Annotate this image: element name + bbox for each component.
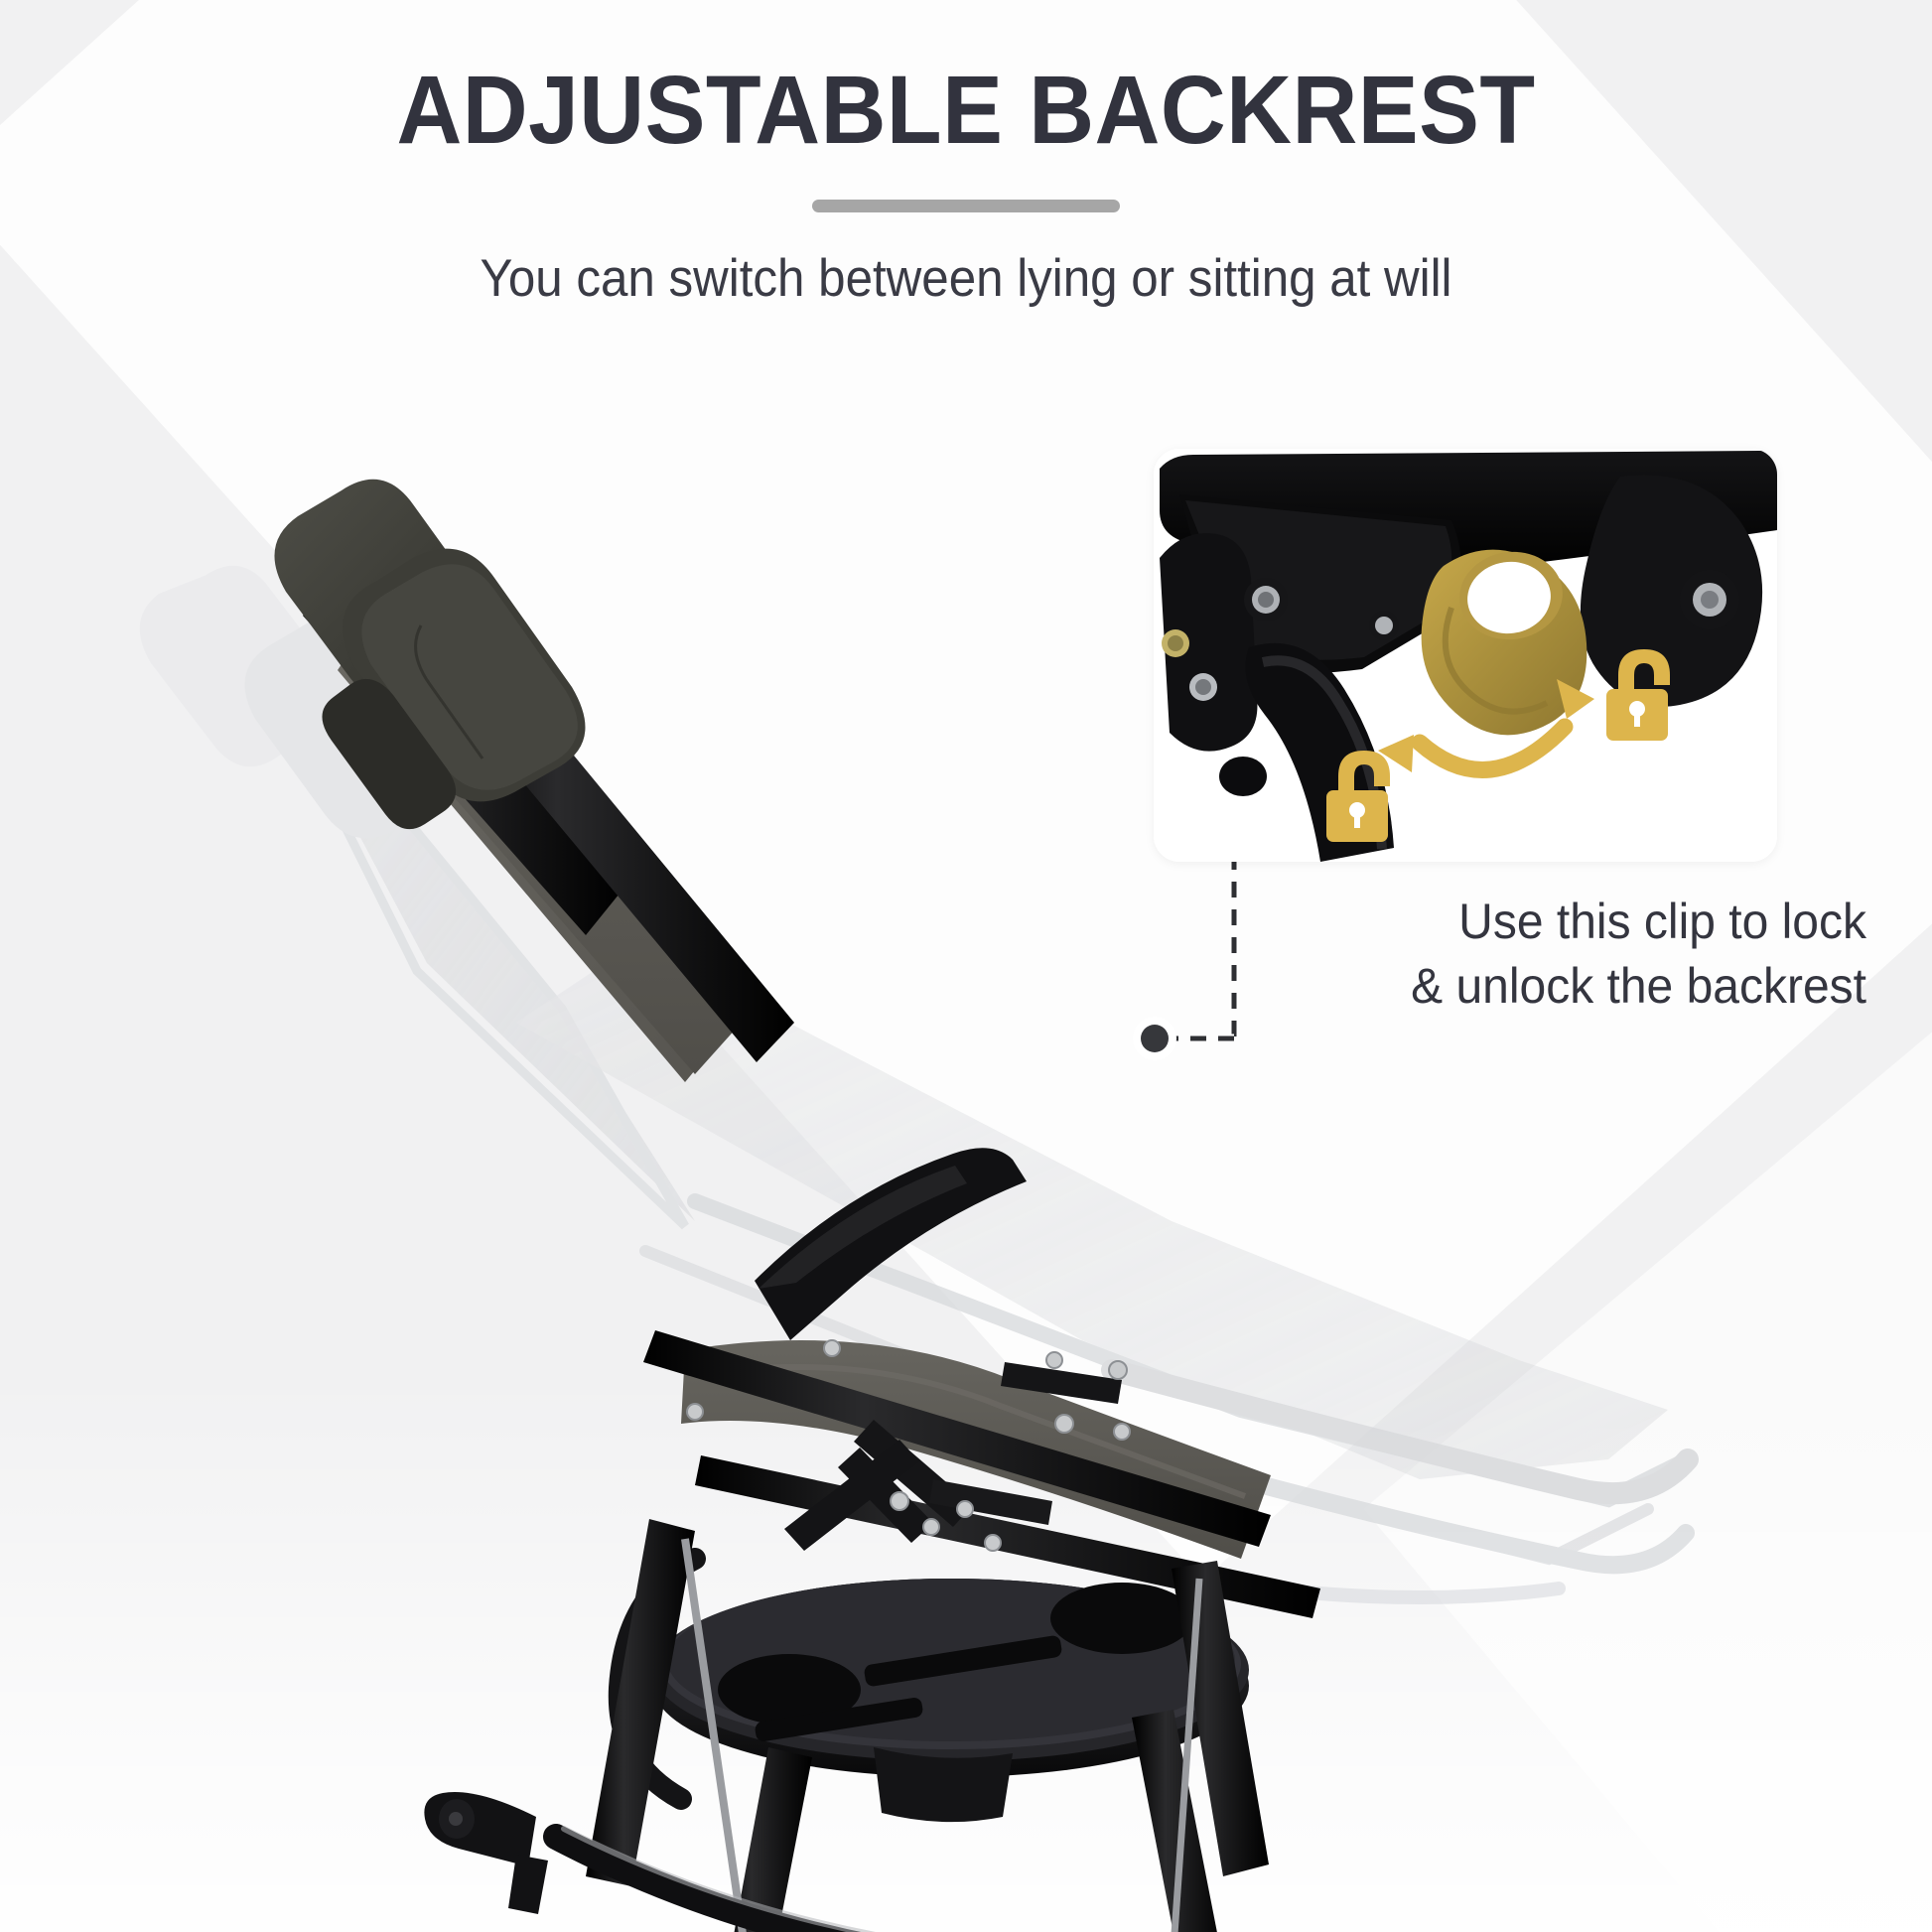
header-block: ADJUSTABLE BACKREST You can switch betwe…: [0, 0, 1932, 308]
page-title: ADJUSTABLE BACKREST: [58, 0, 1873, 158]
cup-holder-right: [1050, 1583, 1193, 1654]
infographic-canvas: ADJUSTABLE BACKREST You can switch betwe…: [0, 0, 1932, 1932]
rubber-knob: [1219, 757, 1267, 796]
clip-detail-inset-panel: [1154, 449, 1777, 862]
callout-text: Use this clip to lock & unlock the backr…: [1172, 890, 1866, 1019]
callout-line-1: Use this clip to lock: [1199, 890, 1866, 954]
callout-line-2: & unlock the backrest: [1199, 954, 1866, 1019]
page-subtitle: You can switch between lying or sitting …: [68, 212, 1864, 308]
title-divider: [812, 200, 1120, 212]
